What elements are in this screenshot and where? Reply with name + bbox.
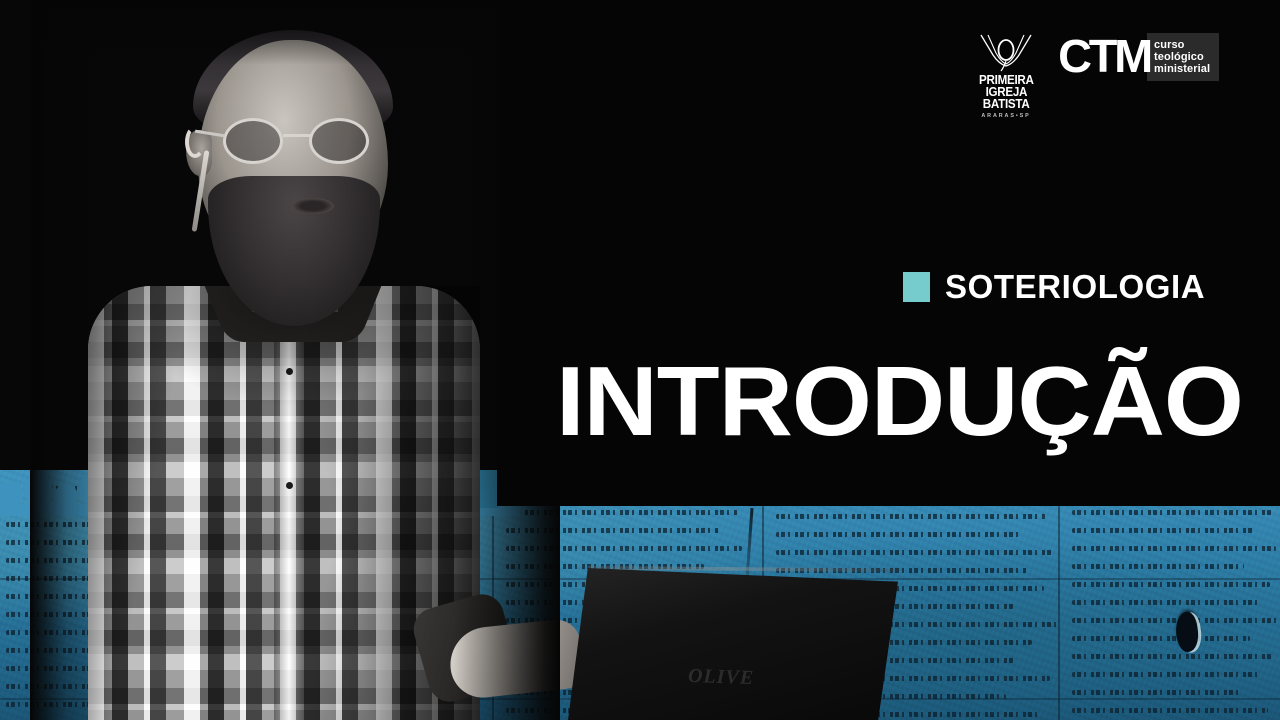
ctm-acronym: CTM — [1058, 33, 1150, 81]
speaker-photo — [30, 0, 500, 720]
course-name: SOTERIOLOGIA — [945, 268, 1205, 306]
church-line-3: BATISTA — [983, 99, 1030, 111]
glasses-bridge — [283, 134, 311, 137]
ctm-sub-3: ministerial — [1154, 63, 1210, 75]
eyeglasses — [223, 118, 373, 164]
laptop-emboss-text: OLIVE — [688, 665, 755, 690]
ctm-sub-1: curso — [1154, 39, 1210, 51]
lens-right — [309, 118, 369, 164]
course-eyebrow: SOTERIOLOGIA — [903, 268, 1205, 306]
speaker-mouth — [292, 198, 334, 214]
logo-row: PRIMEIRA IGREJA BATISTA ARARAS•SP CTM cu… — [975, 33, 1219, 119]
church-city-label: ARARAS•SP — [981, 113, 1030, 119]
page-title: INTRODUÇÃO — [556, 352, 1280, 450]
dove-chalice-mark — [978, 33, 1034, 73]
ctm-subtitle-block: curso teológico ministerial — [1147, 33, 1219, 81]
church-logo[interactable]: PRIMEIRA IGREJA BATISTA ARARAS•SP — [975, 33, 1037, 119]
church-wordmark: PRIMEIRA IGREJA BATISTA — [977, 75, 1036, 110]
laptop-device — [568, 568, 898, 720]
ctm-logo[interactable]: CTM curso teológico ministerial — [1059, 33, 1219, 81]
accent-square-icon — [903, 272, 930, 302]
ctm-sub-2: teológico — [1154, 51, 1210, 63]
slide-canvas: OLIVE PRIMEIRA IGREJA BATISTA ARARAS•SP … — [0, 0, 1280, 720]
lens-left — [223, 118, 283, 164]
headset-earhook-icon — [185, 126, 205, 158]
